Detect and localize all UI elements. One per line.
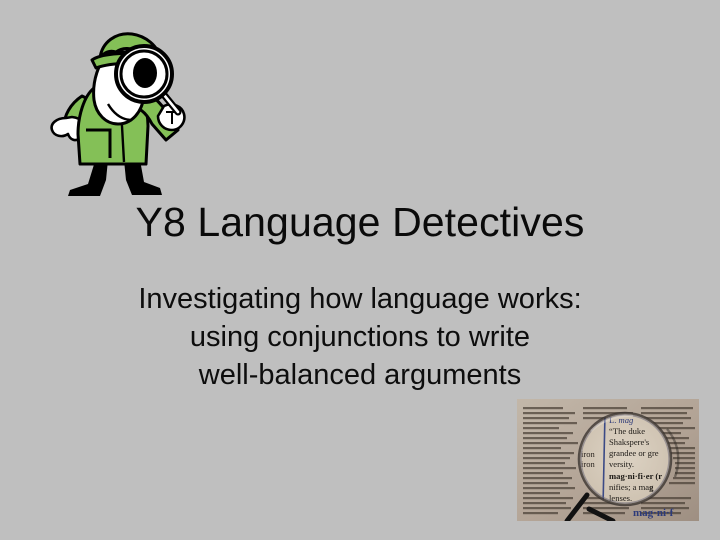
subtitle-line-1: Investigating how language works: xyxy=(0,281,720,319)
svg-text:nifies; a mag: nifies; a mag xyxy=(609,482,654,492)
svg-text:versity.: versity. xyxy=(609,459,634,469)
svg-text:mag·ni·fi·er (r: mag·ni·fi·er (r xyxy=(609,471,662,481)
slide-title: Y8 Language Detectives xyxy=(0,198,720,246)
title-placeholder: Y8 Language Detectives xyxy=(0,198,720,246)
svg-text:iron: iron xyxy=(581,459,595,469)
subtitle-line-3: well-balanced arguments xyxy=(0,357,720,395)
subtitle-line-2: using conjunctions to write xyxy=(0,319,720,357)
dictionary-photo: mag·ni·f d: iron iron rn- L. mag xyxy=(517,399,699,521)
svg-text:Shakspere's: Shakspere's xyxy=(609,437,650,447)
svg-text:mag·ni·f: mag·ni·f xyxy=(633,507,674,519)
svg-text:iron: iron xyxy=(581,449,595,459)
svg-text:grandee or gre: grandee or gre xyxy=(609,448,659,458)
detective-clipart xyxy=(48,30,208,198)
svg-text:“The duke: “The duke xyxy=(609,426,645,436)
presentation-slide: Y8 Language Detectives Investigating how… xyxy=(0,0,720,540)
subtitle-placeholder: Investigating how language works: using … xyxy=(0,281,720,395)
